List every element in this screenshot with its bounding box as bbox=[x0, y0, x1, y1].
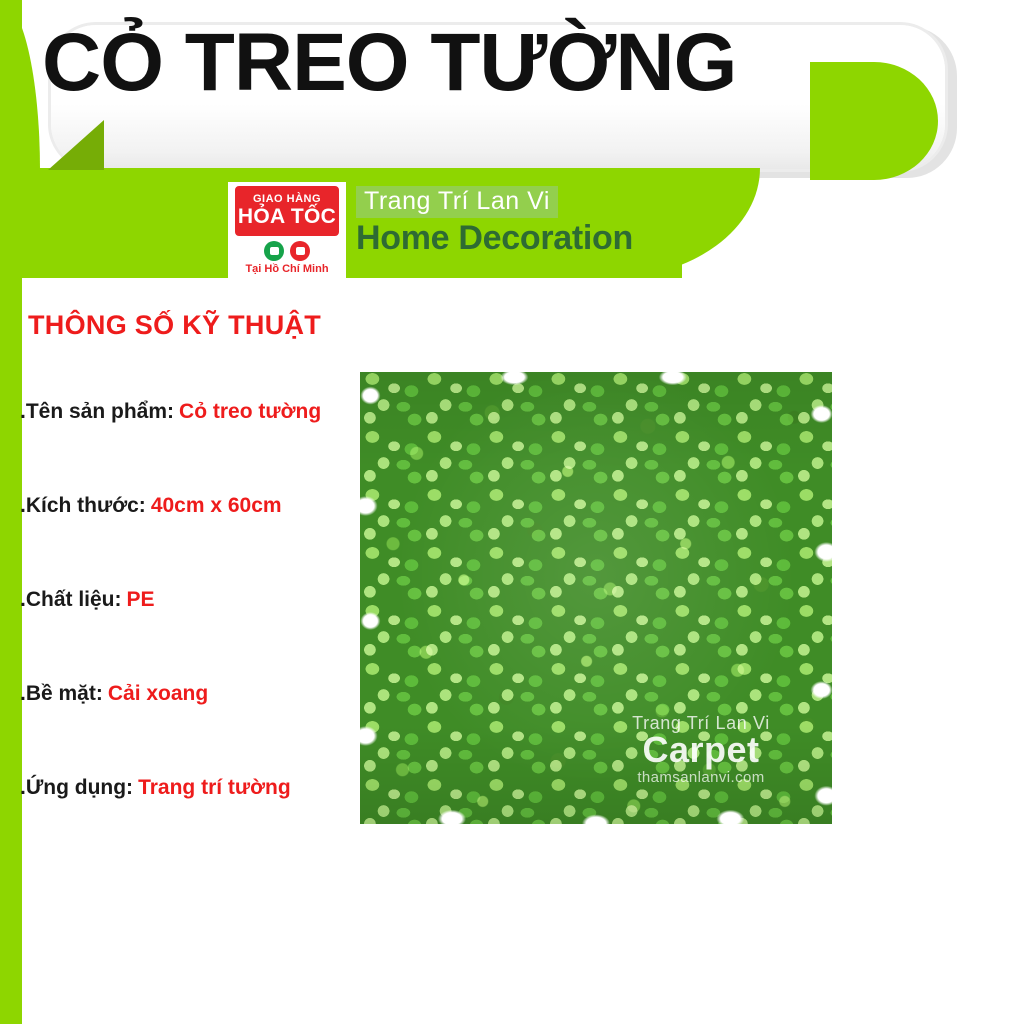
spec-value: Trang trí tường bbox=[138, 776, 291, 799]
product-infographic-page: CỎ TREO TƯỜNG GIAO HÀNG HỎA TỐC Tại Hồ C… bbox=[0, 0, 1024, 1024]
left-green-strip bbox=[0, 0, 22, 1024]
brand-name-en: Home Decoration bbox=[356, 220, 633, 257]
shipping-badge-box: GIAO HÀNG HỎA TỐC bbox=[233, 184, 341, 238]
brand-name-vi: Trang Trí Lan Vi bbox=[356, 186, 558, 218]
spec-label: .Kích thước: bbox=[20, 494, 146, 517]
specs-heading: THÔNG SỐ KỸ THUẬT bbox=[28, 310, 321, 341]
shipping-badge-icons bbox=[228, 241, 346, 261]
shipping-badge: GIAO HÀNG HỎA TỐC Tại Hồ Chí Minh bbox=[228, 182, 346, 282]
spec-row: .Kích thước:40cm x 60cm bbox=[20, 494, 380, 588]
spec-row: .Bề mặt:Cải xoang bbox=[20, 682, 380, 776]
box-icon bbox=[290, 241, 310, 261]
spec-value: Cải xoang bbox=[108, 682, 208, 705]
spec-label: .Tên sản phẩm: bbox=[20, 400, 174, 423]
brand-lockup: Trang Trí Lan Vi Home Decoration bbox=[356, 186, 633, 257]
spec-label: .Ứng dụng: bbox=[20, 776, 133, 799]
specs-list: .Tên sản phẩm:Cỏ treo tường .Kích thước:… bbox=[20, 400, 380, 870]
spec-row: .Chất liệu:PE bbox=[20, 588, 380, 682]
spec-row: .Ứng dụng:Trang trí tường bbox=[20, 776, 380, 870]
spec-value: Cỏ treo tường bbox=[179, 400, 321, 423]
shipping-badge-line2: HỎA TỐC bbox=[238, 206, 336, 228]
product-image bbox=[360, 372, 832, 824]
spec-row: .Tên sản phẩm:Cỏ treo tường bbox=[20, 400, 380, 494]
spec-value: PE bbox=[127, 588, 155, 611]
shipping-badge-city: Tại Hồ Chí Minh bbox=[228, 263, 346, 275]
page-title: CỎ TREO TƯỜNG bbox=[42, 12, 736, 115]
spec-label: .Bề mặt: bbox=[20, 682, 103, 705]
mat-shading bbox=[360, 372, 832, 824]
truck-icon bbox=[264, 241, 284, 261]
banner-d-shape bbox=[810, 62, 938, 180]
spec-label: .Chất liệu: bbox=[20, 588, 122, 611]
spec-value: 40cm x 60cm bbox=[151, 494, 282, 517]
